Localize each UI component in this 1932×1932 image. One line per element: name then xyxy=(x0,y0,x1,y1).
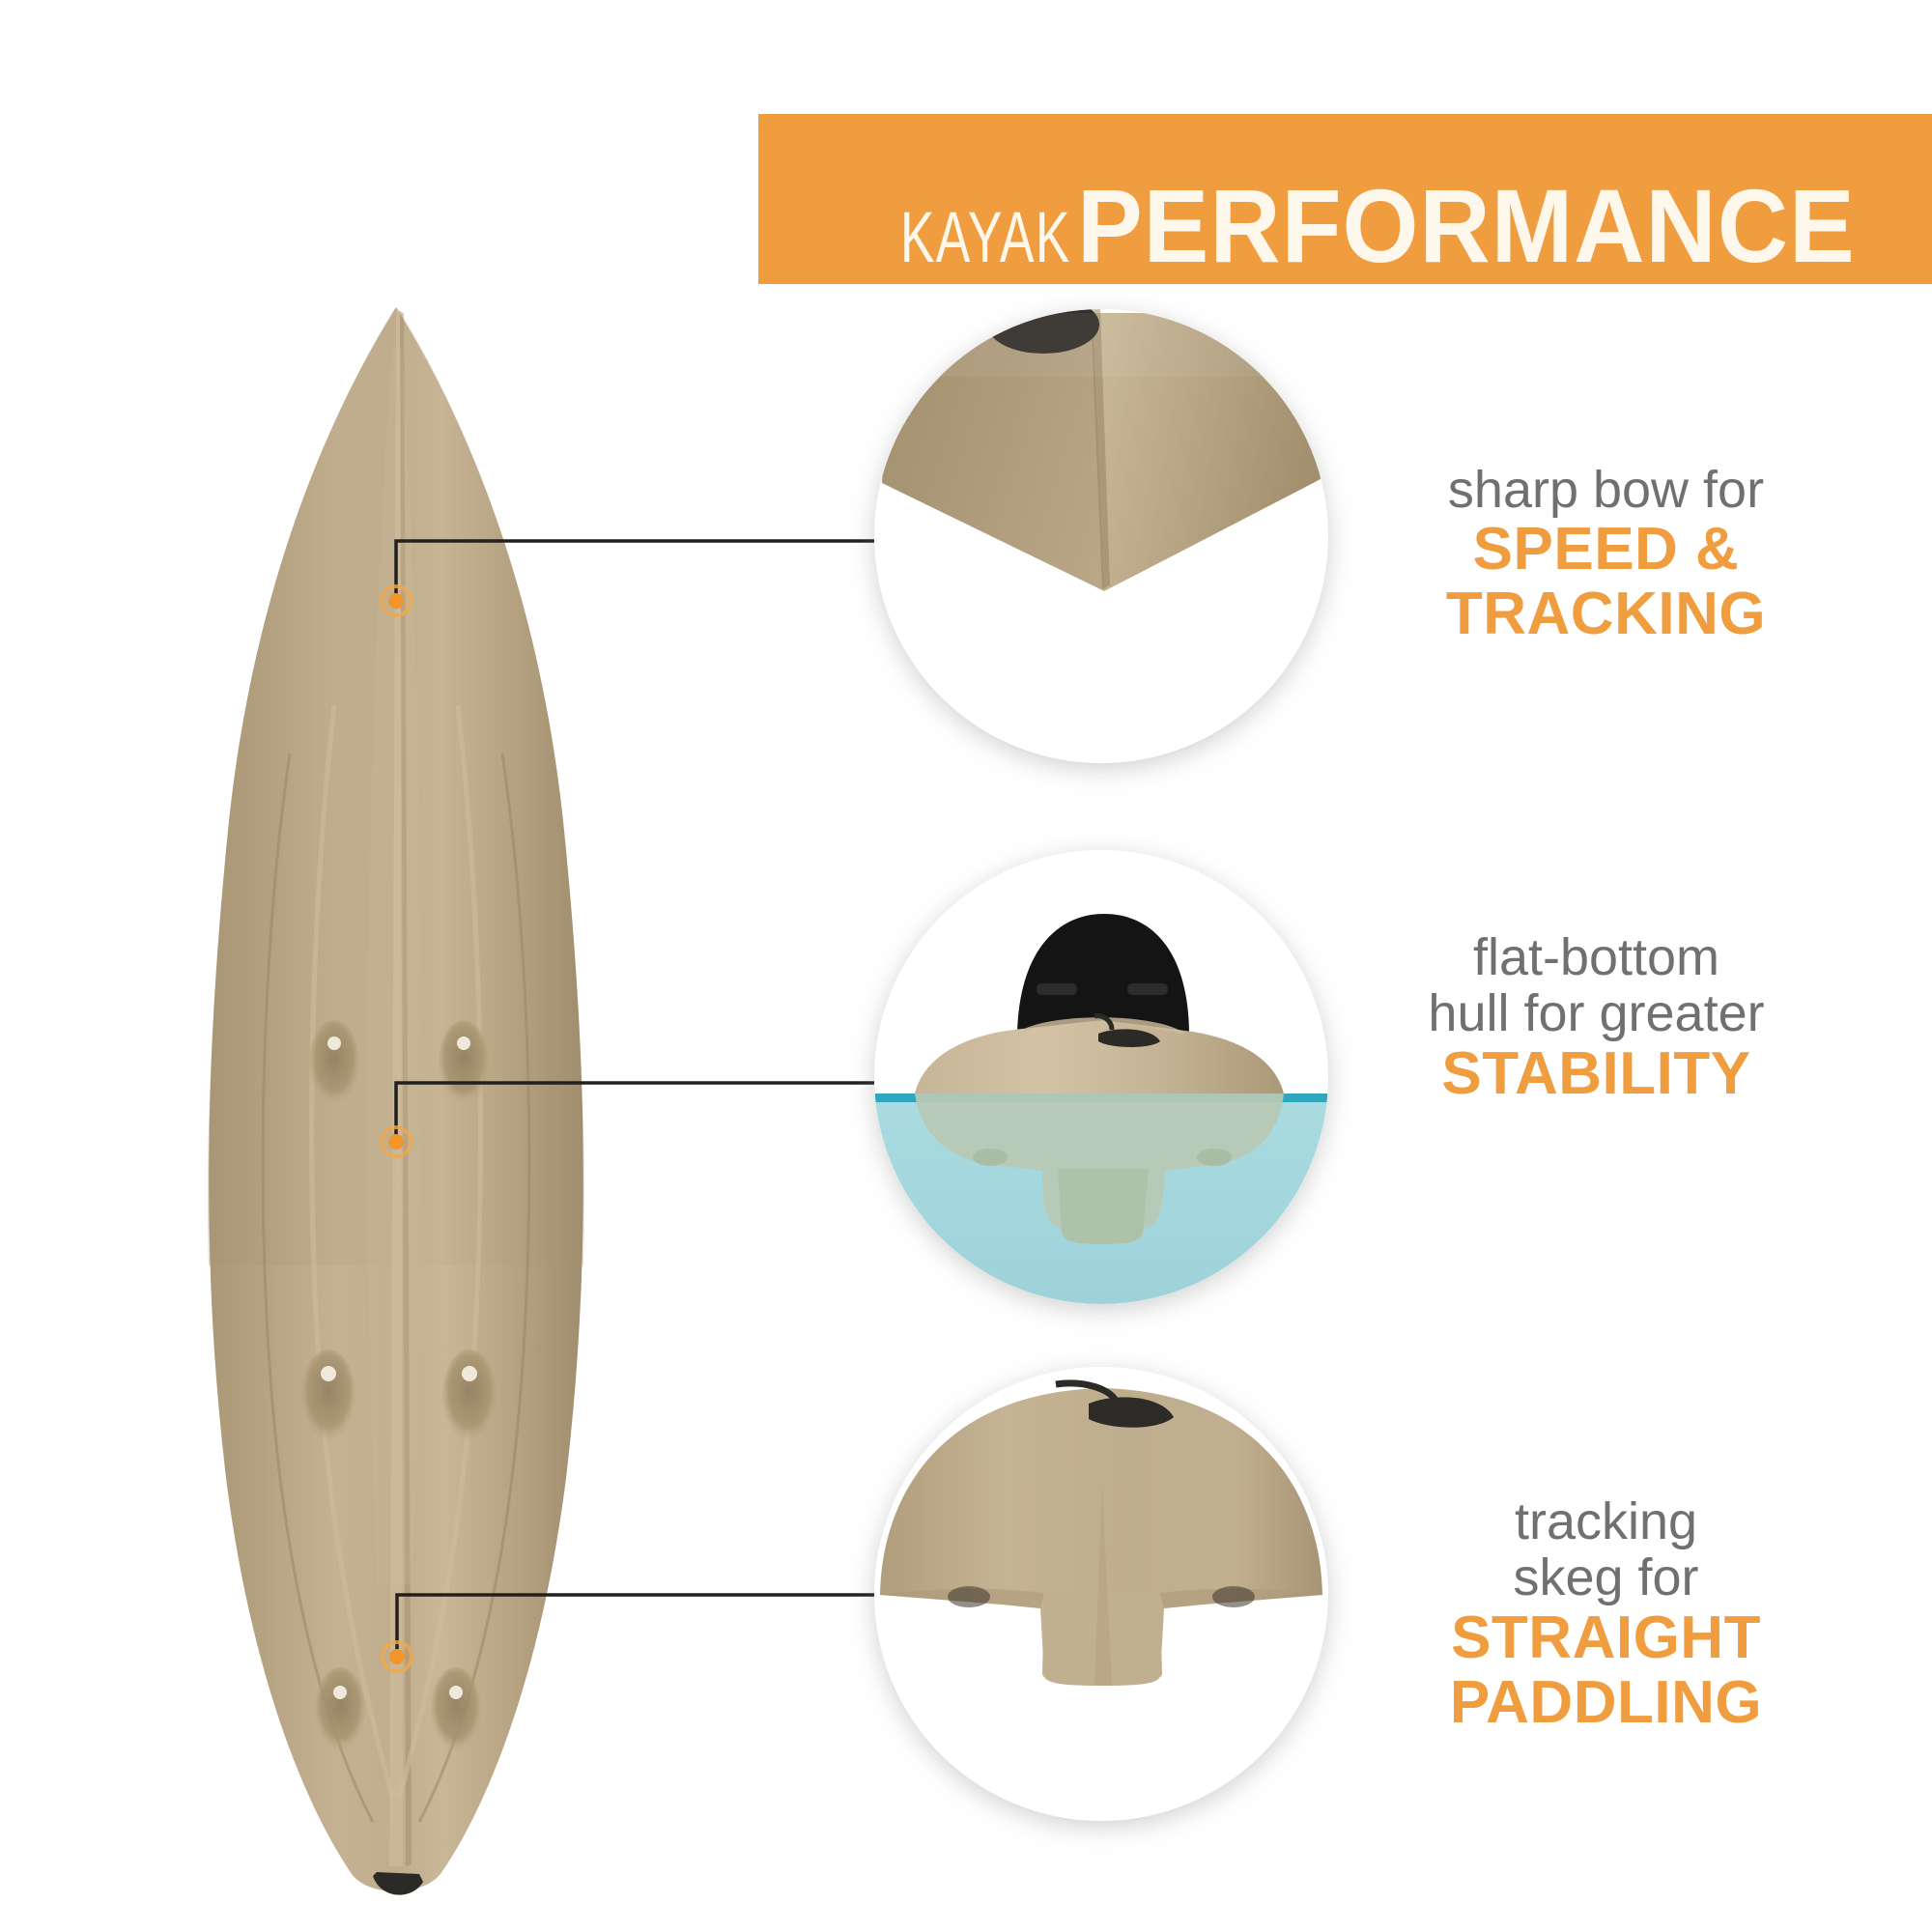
tracking-skeg-photo xyxy=(874,1367,1328,1821)
skeg-scupper-left xyxy=(948,1586,990,1607)
flat-bottom-hull-photo xyxy=(874,850,1328,1304)
skeg-scupper-right xyxy=(1212,1586,1255,1607)
skeg-label-plain-2: skeg for xyxy=(1391,1549,1821,1605)
header-banner: KAYAK PERFORMANCE xyxy=(758,114,1932,284)
skeg-label-plain-1: tracking xyxy=(1391,1493,1821,1549)
hull-label-plain-2: hull for greater xyxy=(1372,985,1821,1041)
bow-underside-photo xyxy=(874,309,1328,763)
bow-label-strong-1: SPEED & xyxy=(1391,518,1821,582)
callout-label-skeg: tracking skeg for STRAIGHT PADDLING xyxy=(1391,1493,1821,1736)
header-title: KAYAK PERFORMANCE xyxy=(834,174,1905,278)
callout-label-bow: sharp bow for SPEED & TRACKING xyxy=(1391,462,1821,647)
hull-label-strong-1: STABILITY xyxy=(1372,1042,1821,1107)
stern-grab-handle xyxy=(373,1872,423,1895)
skeg-label-strong-1: STRAIGHT xyxy=(1391,1606,1821,1671)
callout-circle-bow[interactable] xyxy=(874,309,1328,763)
callout-circle-hull[interactable] xyxy=(874,850,1328,1304)
scupper-right xyxy=(1197,1149,1232,1166)
callout-label-hull: flat-bottom hull for greater STABILITY xyxy=(1372,929,1821,1107)
hull-label-plain-1: flat-bottom xyxy=(1372,929,1821,985)
skeg-label-strong-2: PADDLING xyxy=(1391,1671,1821,1736)
submerged-skeg xyxy=(1058,1169,1149,1244)
kayak-hull-illustration xyxy=(145,290,667,1913)
header-title-light: KAYAK xyxy=(900,196,1071,278)
bow-label-strong-2: TRACKING xyxy=(1391,582,1821,647)
seat-strap-right xyxy=(1127,983,1168,995)
header-title-bold: PERFORMANCE xyxy=(1077,174,1856,278)
hull-right-facet xyxy=(398,307,584,1265)
seat-strap-left xyxy=(1037,983,1077,995)
callout-circle-skeg[interactable] xyxy=(874,1367,1328,1821)
scupper-left xyxy=(973,1149,1008,1166)
kayak-hull-svg xyxy=(145,290,667,1913)
bow-label-plain: sharp bow for xyxy=(1391,462,1821,518)
infographic-canvas: KAYAK PERFORMANCE xyxy=(0,0,1932,1932)
